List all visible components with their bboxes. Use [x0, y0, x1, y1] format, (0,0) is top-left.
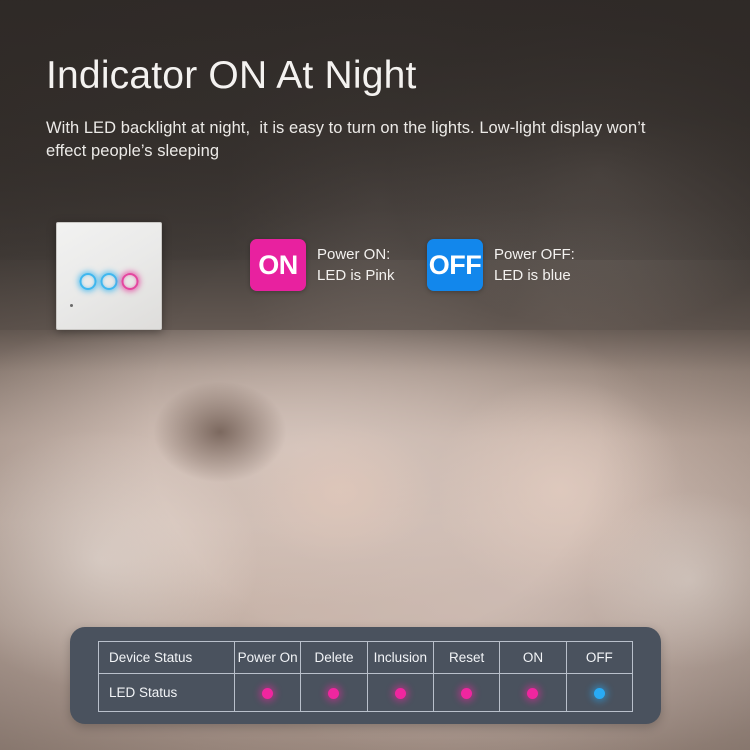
led-dot-icon-off	[594, 688, 605, 699]
row-label-device-status: Device Status	[99, 642, 235, 674]
led-dot-icon-delete	[328, 688, 339, 699]
page-subtitle: With LED backlight at night, it is easy …	[46, 117, 686, 164]
led-ring-icon-2	[101, 273, 118, 290]
legend-power-on: ON Power ON: LED is Pink	[250, 239, 395, 291]
led-ring-icon-1	[80, 273, 97, 290]
switch-panel-product-image	[56, 222, 162, 330]
led-cell-inclusion	[367, 674, 433, 712]
led-cell-on	[500, 674, 566, 712]
led-cell-reset	[433, 674, 499, 712]
column-header-off: OFF	[566, 642, 632, 674]
column-header-reset: Reset	[433, 642, 499, 674]
headline-block: Indicator ON At Night With LED backlight…	[46, 54, 706, 164]
legend-power-off: OFF Power OFF: LED is blue	[427, 239, 575, 291]
led-ring-icon-3	[122, 273, 139, 290]
column-header-on: ON	[500, 642, 566, 674]
table-row-led-status: LED Status	[99, 674, 633, 712]
led-dot-icon-on	[527, 688, 538, 699]
page-title: Indicator ON At Night	[46, 54, 706, 99]
led-dot-icon-inclusion	[395, 688, 406, 699]
badge-off: OFF	[427, 239, 483, 291]
table-row-device-status: Device Status Power On Delete Inclusion …	[99, 642, 633, 674]
led-cell-off	[566, 674, 632, 712]
badge-on: ON	[250, 239, 306, 291]
column-header-power-on: Power On	[235, 642, 301, 674]
device-status-table: Device Status Power On Delete Inclusion …	[98, 641, 633, 712]
legend-on-description: Power ON: LED is Pink	[317, 244, 395, 287]
column-header-inclusion: Inclusion	[367, 642, 433, 674]
status-table-panel: Device Status Power On Delete Inclusion …	[70, 627, 661, 724]
column-header-delete: Delete	[301, 642, 367, 674]
promo-banner: Indicator ON At Night With LED backlight…	[0, 0, 750, 750]
led-cell-delete	[301, 674, 367, 712]
legend-off-description: Power OFF: LED is blue	[494, 244, 575, 287]
row-label-led-status: LED Status	[99, 674, 235, 712]
led-dot-icon-reset	[461, 688, 472, 699]
switch-led-group	[80, 273, 139, 290]
switch-brand-dot-icon	[70, 304, 73, 307]
led-dot-icon-power-on	[262, 688, 273, 699]
led-cell-power-on	[235, 674, 301, 712]
